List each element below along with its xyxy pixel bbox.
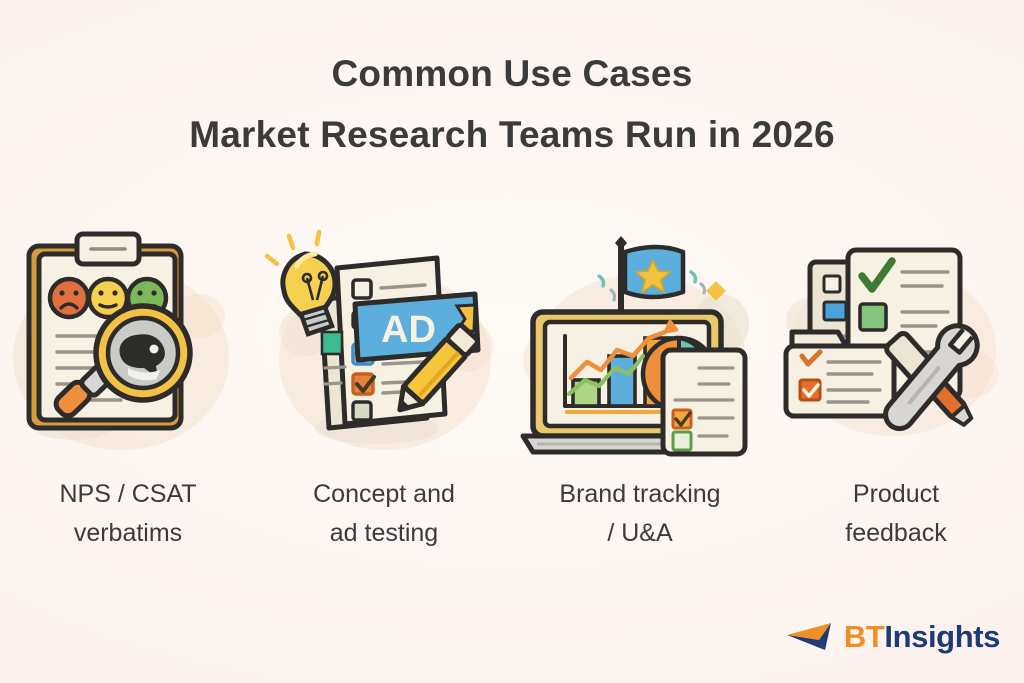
folder-icon (786, 332, 894, 416)
caption-line-1: Brand tracking (526, 475, 754, 514)
caption-brand-tracking-ua: Brand tracking / U&A (512, 475, 768, 553)
caption-row: NPS / CSAT verbatims Concept and ad test… (0, 475, 1024, 553)
panel-nps-csat (0, 228, 256, 478)
page-title-line-1: Common Use Cases (0, 54, 1024, 95)
checklist-card-icon (663, 350, 745, 454)
illustration-row: AD (0, 228, 1024, 478)
caption-line-2: ad testing (270, 514, 498, 553)
caption-line-2: verbatims (14, 514, 242, 553)
caption-line-2: feedback (782, 514, 1010, 553)
ad-banner-label: AD (381, 309, 436, 351)
logo-wordmark: BTInsights (844, 619, 1000, 655)
caption-product-feedback: Product feedback (768, 475, 1024, 553)
panel-product-feedback (768, 228, 1024, 478)
checkbox-orange-icon (353, 374, 374, 394)
caption-line-2: / U&A (526, 514, 754, 553)
lightbulb-ad-banner-pencil-icon: AD (259, 228, 509, 458)
lightbulb-icon (267, 232, 335, 334)
caption-line-1: NPS / CSAT (14, 475, 242, 514)
logo-text-bt: BT (844, 619, 885, 654)
bar-blue (609, 356, 635, 406)
infographic-canvas: Common Use Cases Market Research Teams R… (0, 0, 1024, 683)
panel-brand-tracking-ua (512, 228, 768, 478)
sad-face-icon (50, 279, 88, 317)
title-block: Common Use Cases Market Research Teams R… (0, 54, 1024, 155)
panel-concept-ad-testing: AD (256, 228, 512, 478)
arrow-chevron-mark-icon (785, 620, 833, 654)
caption-line-1: Concept and (270, 475, 498, 514)
page-title-line-2: Market Research Teams Run in 2026 (0, 115, 1024, 156)
brand-logo: BTInsights (785, 619, 1000, 655)
documents-folder-tools-icon (776, 228, 1016, 453)
caption-nps-csat: NPS / CSAT verbatims (0, 475, 256, 553)
caption-line-1: Product (782, 475, 1010, 514)
caption-concept-ad-testing: Concept and ad testing (256, 475, 512, 553)
logo-text-insights: Insights (884, 619, 1000, 654)
clipboard-survey-magnifier-icon (3, 228, 253, 458)
laptop-charts-flag-checklist-icon (515, 228, 765, 468)
